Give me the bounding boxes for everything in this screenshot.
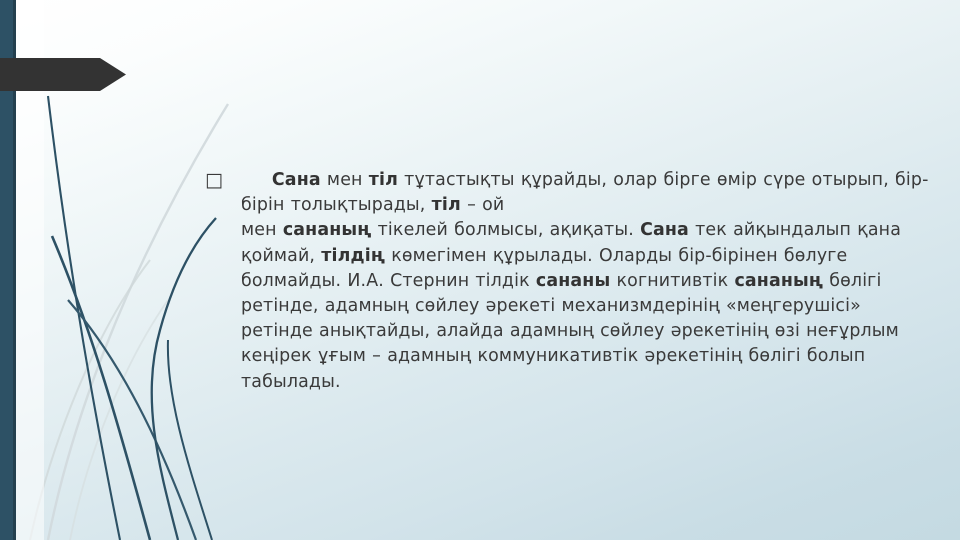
content-body: □ Сана мен тіл тұтастықты құрайды, олар … — [205, 168, 935, 395]
curve-dark-3 — [68, 300, 196, 540]
paragraph-text: Сана мен тіл тұтастықты құрайды, олар бі… — [241, 168, 935, 395]
curve-light-3 — [70, 300, 168, 540]
curve-dark-1 — [48, 96, 120, 540]
title-chevron-banner — [0, 58, 126, 91]
curve-light-2 — [30, 260, 150, 540]
curve-dark-2 — [52, 236, 150, 540]
slide-canvas: □ Сана мен тіл тұтастықты құрайды, олар … — [0, 0, 960, 540]
bullet-list-item: □ Сана мен тіл тұтастықты құрайды, олар … — [205, 168, 935, 395]
curve-light-1 — [48, 104, 228, 540]
bullet-marker-icon: □ — [205, 168, 241, 193]
